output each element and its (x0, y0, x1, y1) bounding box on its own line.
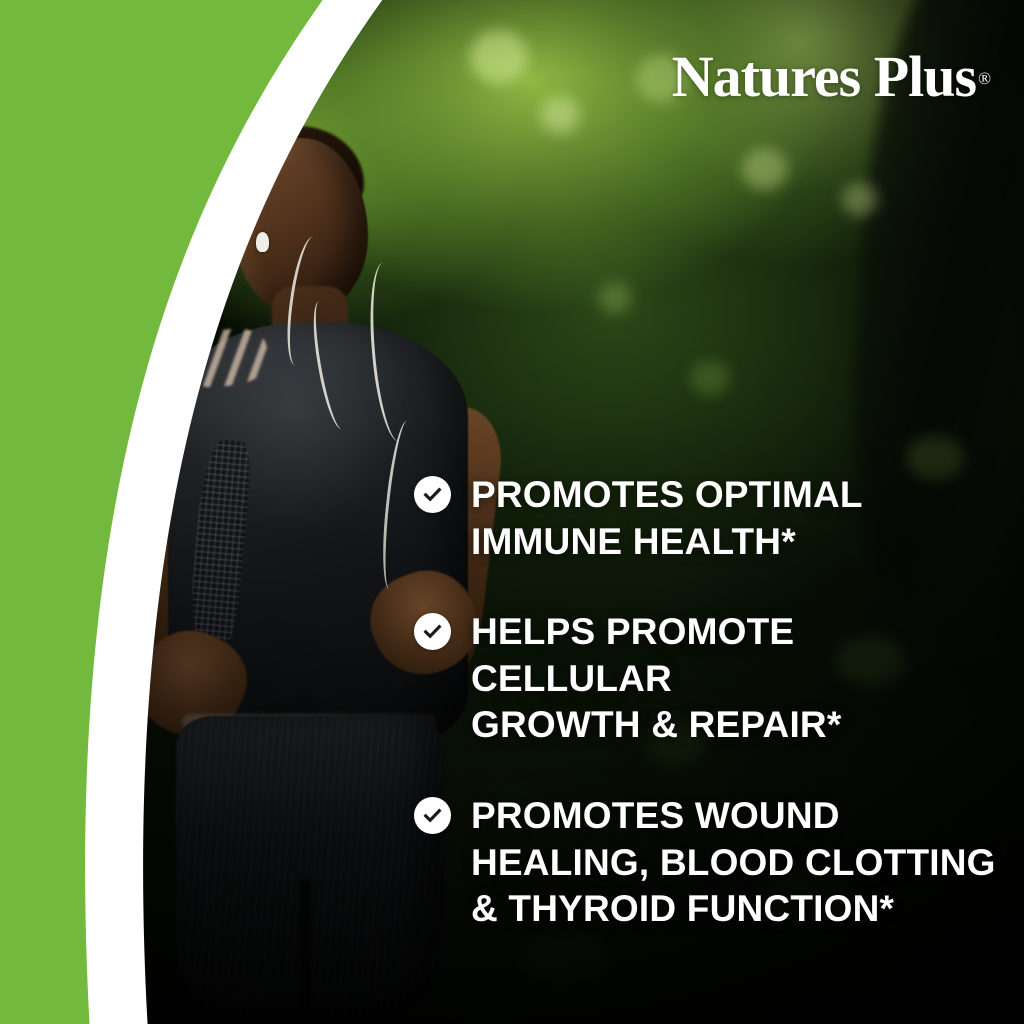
check-circle-icon (414, 476, 451, 513)
benefit-label: PROMOTES WOUND HEALING, BLOOD CLOTTING &… (471, 793, 996, 933)
check-circle-icon (414, 613, 451, 650)
green-panel (0, 0, 352, 1024)
benefit-item: PROMOTES WOUND HEALING, BLOOD CLOTTING &… (414, 793, 998, 933)
brand-name: Natures Plus (672, 44, 976, 109)
promotional-banner: Natures Plus® PROMOTES OPTIMAL IMMUNE HE… (0, 0, 1024, 1024)
benefits-list: PROMOTES OPTIMAL IMMUNE HEALTH* HELPS PR… (414, 472, 998, 933)
registered-trademark-icon: ® (978, 69, 990, 88)
benefit-label: PROMOTES OPTIMAL IMMUNE HEALTH* (471, 472, 863, 565)
brand-logo: Natures Plus® (672, 48, 990, 106)
benefit-item: HELPS PROMOTE CELLULAR GROWTH & REPAIR* (414, 609, 998, 749)
benefit-item: PROMOTES OPTIMAL IMMUNE HEALTH* (414, 472, 998, 565)
benefit-label: HELPS PROMOTE CELLULAR GROWTH & REPAIR* (471, 609, 998, 749)
check-circle-icon (414, 797, 451, 834)
